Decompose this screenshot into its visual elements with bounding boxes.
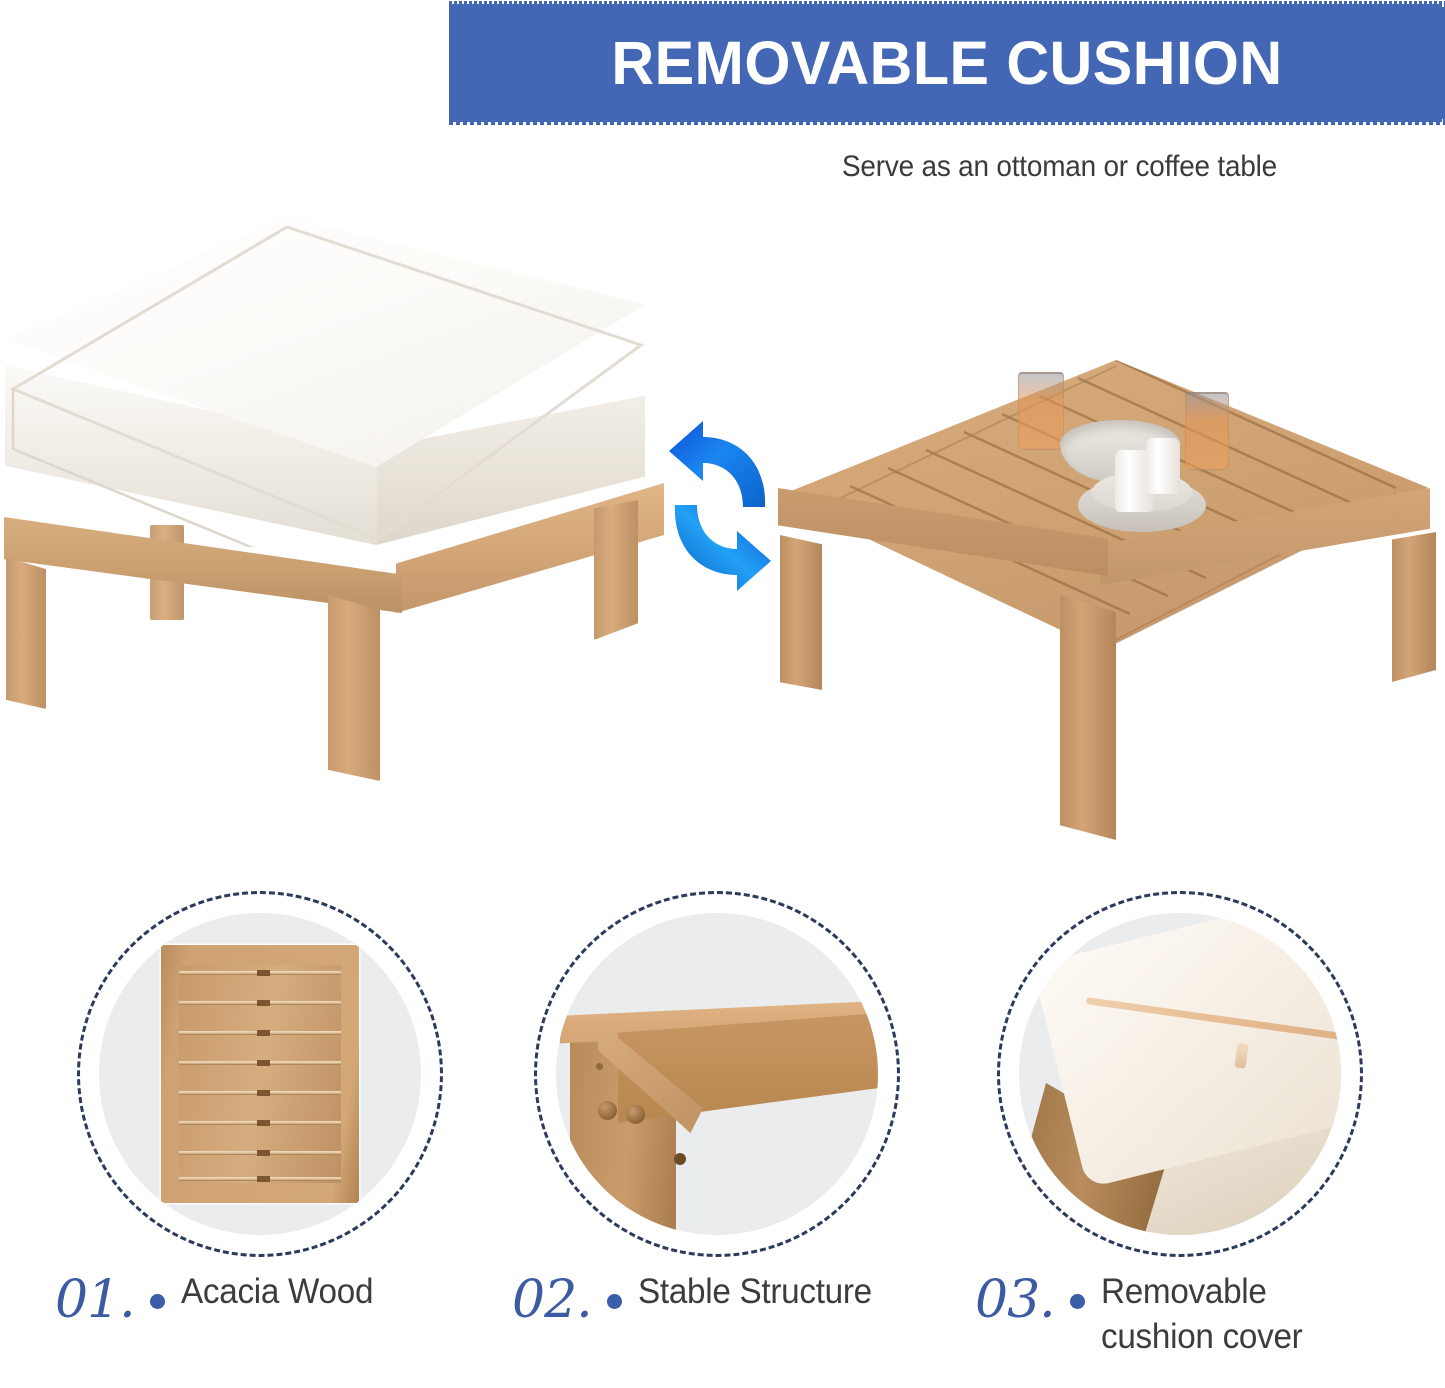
panel-notch	[257, 1060, 270, 1066]
table-left-leg	[780, 535, 822, 690]
feature-label-2: Stable Structure	[638, 1270, 872, 1315]
hero-section	[0, 175, 1445, 865]
slatted-wood-panel-photo	[99, 913, 421, 1235]
panel-notch	[257, 1150, 270, 1156]
panel-notch	[257, 970, 270, 976]
ottoman-back-right-leg	[594, 500, 638, 640]
table-front-leg	[1060, 595, 1116, 840]
wood-panel-inner	[179, 965, 341, 1183]
amber-glass-left	[1018, 372, 1064, 450]
joint-screw-hole	[674, 1153, 686, 1165]
joint-screw	[626, 1105, 645, 1124]
amber-glass-right	[1185, 392, 1229, 470]
coffee-table-product-image	[760, 360, 1445, 860]
table-right-leg	[1392, 532, 1436, 682]
feature-photo-circle-1	[99, 913, 421, 1235]
joint-screw-hole	[596, 1063, 603, 1070]
feature-number-3: 03.	[975, 1274, 1055, 1326]
banner-title: REMOVABLE CUSHION	[467, 4, 1427, 122]
feature-bullet-dot-2	[607, 1294, 622, 1309]
feature-caption-1: 01. Acacia Wood	[55, 1270, 383, 1326]
panel-notch	[257, 1120, 270, 1126]
zipper-pull	[1234, 1042, 1248, 1068]
feature-highlights: 01. Acacia Wood 02. Stable Structure	[0, 888, 1445, 1388]
panel-notch	[257, 1030, 270, 1036]
pillar-candle-back	[1146, 438, 1180, 494]
zipper-track	[1086, 997, 1341, 1040]
feature-label-3-line2: cushion cover	[1101, 1317, 1302, 1356]
feature-photo-circle-3	[1019, 913, 1341, 1235]
cushion-zipper-photo	[1019, 913, 1341, 1235]
feature-bullet-dot-1	[150, 1294, 165, 1309]
feature-label-3: Removablecushion cover	[1101, 1270, 1302, 1360]
feature-photo-circle-2	[556, 913, 878, 1235]
feature-label-3-line1: Removable	[1101, 1272, 1267, 1311]
panel-notch	[257, 1176, 270, 1182]
ottoman-front-left-leg	[6, 557, 46, 709]
feature-number-1: 01.	[55, 1274, 135, 1326]
feature-label-1: Acacia Wood	[181, 1270, 373, 1315]
feature-bullet-dot-3	[1070, 1294, 1085, 1309]
ottoman-product-image	[0, 195, 680, 715]
panel-notch	[257, 1090, 270, 1096]
feature-caption-3: 03. Removablecushion cover	[975, 1270, 1313, 1360]
corner-joint-photo	[556, 913, 878, 1235]
ottoman-front-center-leg	[328, 595, 380, 781]
joint-screw	[598, 1101, 617, 1120]
feature-caption-2: 02. Stable Structure	[512, 1270, 884, 1326]
feature-number-2: 02.	[512, 1274, 592, 1326]
header-banner: REMOVABLE CUSHION	[452, 4, 1442, 122]
wood-panel	[161, 945, 359, 1203]
panel-notch	[257, 1000, 270, 1006]
